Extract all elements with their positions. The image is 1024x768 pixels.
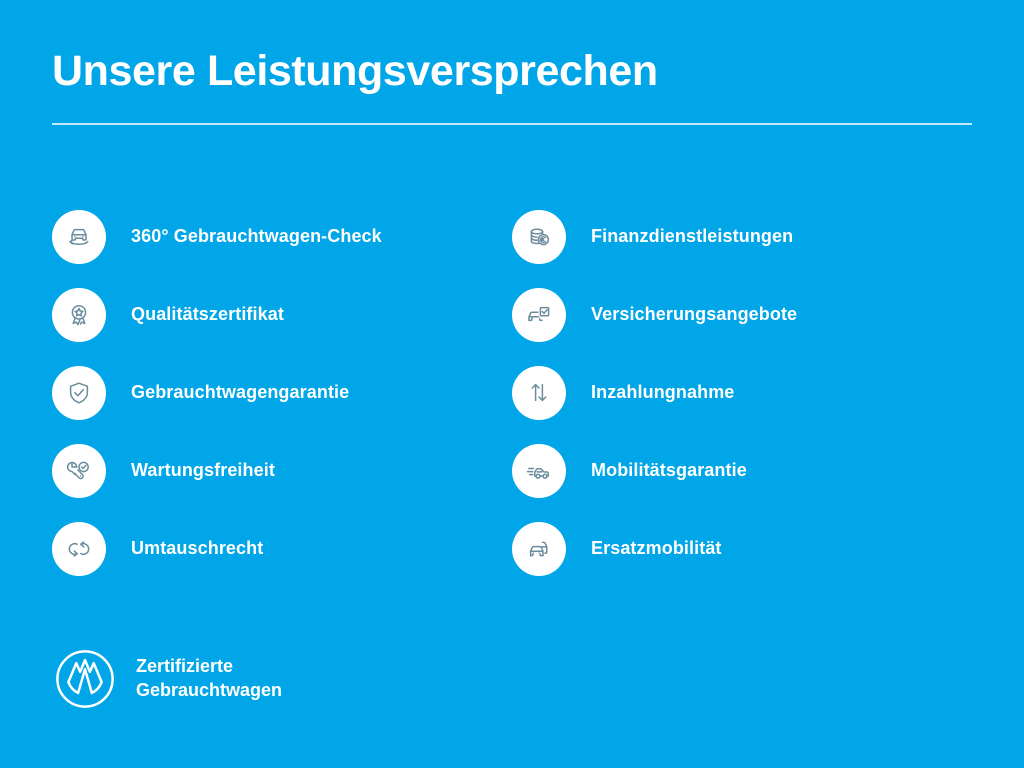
benefit-item[interactable]: Versicherungsangebote bbox=[512, 276, 972, 354]
exchange-arrows-icon bbox=[52, 522, 106, 576]
shield-check-icon bbox=[52, 366, 106, 420]
benefit-item[interactable]: Ersatzmobilität bbox=[512, 510, 972, 588]
title-divider bbox=[52, 123, 972, 125]
tow-truck-icon bbox=[512, 444, 566, 498]
up-down-arrows-icon bbox=[512, 366, 566, 420]
benefit-item[interactable]: Finanzdienstleistungen bbox=[512, 198, 972, 276]
benefit-label: Finanzdienstleistungen bbox=[591, 226, 793, 248]
benefit-item[interactable]: Umtauschrecht bbox=[52, 510, 512, 588]
footer-line-2: Gebrauchtwagen bbox=[136, 679, 282, 703]
benefit-label: Gebrauchtwagengarantie bbox=[131, 382, 349, 404]
benefit-label: Mobilitätsgarantie bbox=[591, 460, 747, 482]
benefit-item[interactable]: Qualitätszertifikat bbox=[52, 276, 512, 354]
benefit-label: Wartungsfreiheit bbox=[131, 460, 275, 482]
benefit-item[interactable]: Mobilitätsgarantie bbox=[512, 432, 972, 510]
footer-line-1: Zertifizierte bbox=[136, 655, 282, 679]
benefit-label: Qualitätszertifikat bbox=[131, 304, 284, 326]
benefit-item[interactable]: 360° Gebrauchtwagen-Check bbox=[52, 198, 512, 276]
volkswagen-logo bbox=[54, 648, 116, 710]
leistungsversprechen-poster: Unsere Leistungsversprechen 360° Gebrauc… bbox=[0, 0, 1024, 768]
benefit-item[interactable]: Inzahlungnahme bbox=[512, 354, 972, 432]
two-cars-icon bbox=[512, 522, 566, 576]
benefit-item[interactable]: Gebrauchtwagengarantie bbox=[52, 354, 512, 432]
benefit-label: Inzahlungnahme bbox=[591, 382, 734, 404]
car-document-check-icon bbox=[512, 288, 566, 342]
page-title: Unsere Leistungsversprechen bbox=[52, 48, 972, 95]
poster-header: Unsere Leistungsversprechen bbox=[52, 48, 972, 125]
wrench-check-icon bbox=[52, 444, 106, 498]
car-360-check-icon bbox=[52, 210, 106, 264]
award-rosette-icon bbox=[52, 288, 106, 342]
footer-text: Zertifizierte Gebrauchtwagen bbox=[136, 655, 282, 703]
benefit-label: Versicherungsangebote bbox=[591, 304, 797, 326]
benefit-label: Ersatzmobilität bbox=[591, 538, 722, 560]
benefit-label: 360° Gebrauchtwagen-Check bbox=[131, 226, 382, 248]
footer-logo-lockup: Zertifizierte Gebrauchtwagen bbox=[54, 648, 282, 710]
benefit-item[interactable]: Wartungsfreiheit bbox=[52, 432, 512, 510]
benefits-grid: 360° Gebrauchtwagen-Check Finanzdienstle… bbox=[52, 198, 972, 588]
coins-euro-icon bbox=[512, 210, 566, 264]
benefit-label: Umtauschrecht bbox=[131, 538, 263, 560]
